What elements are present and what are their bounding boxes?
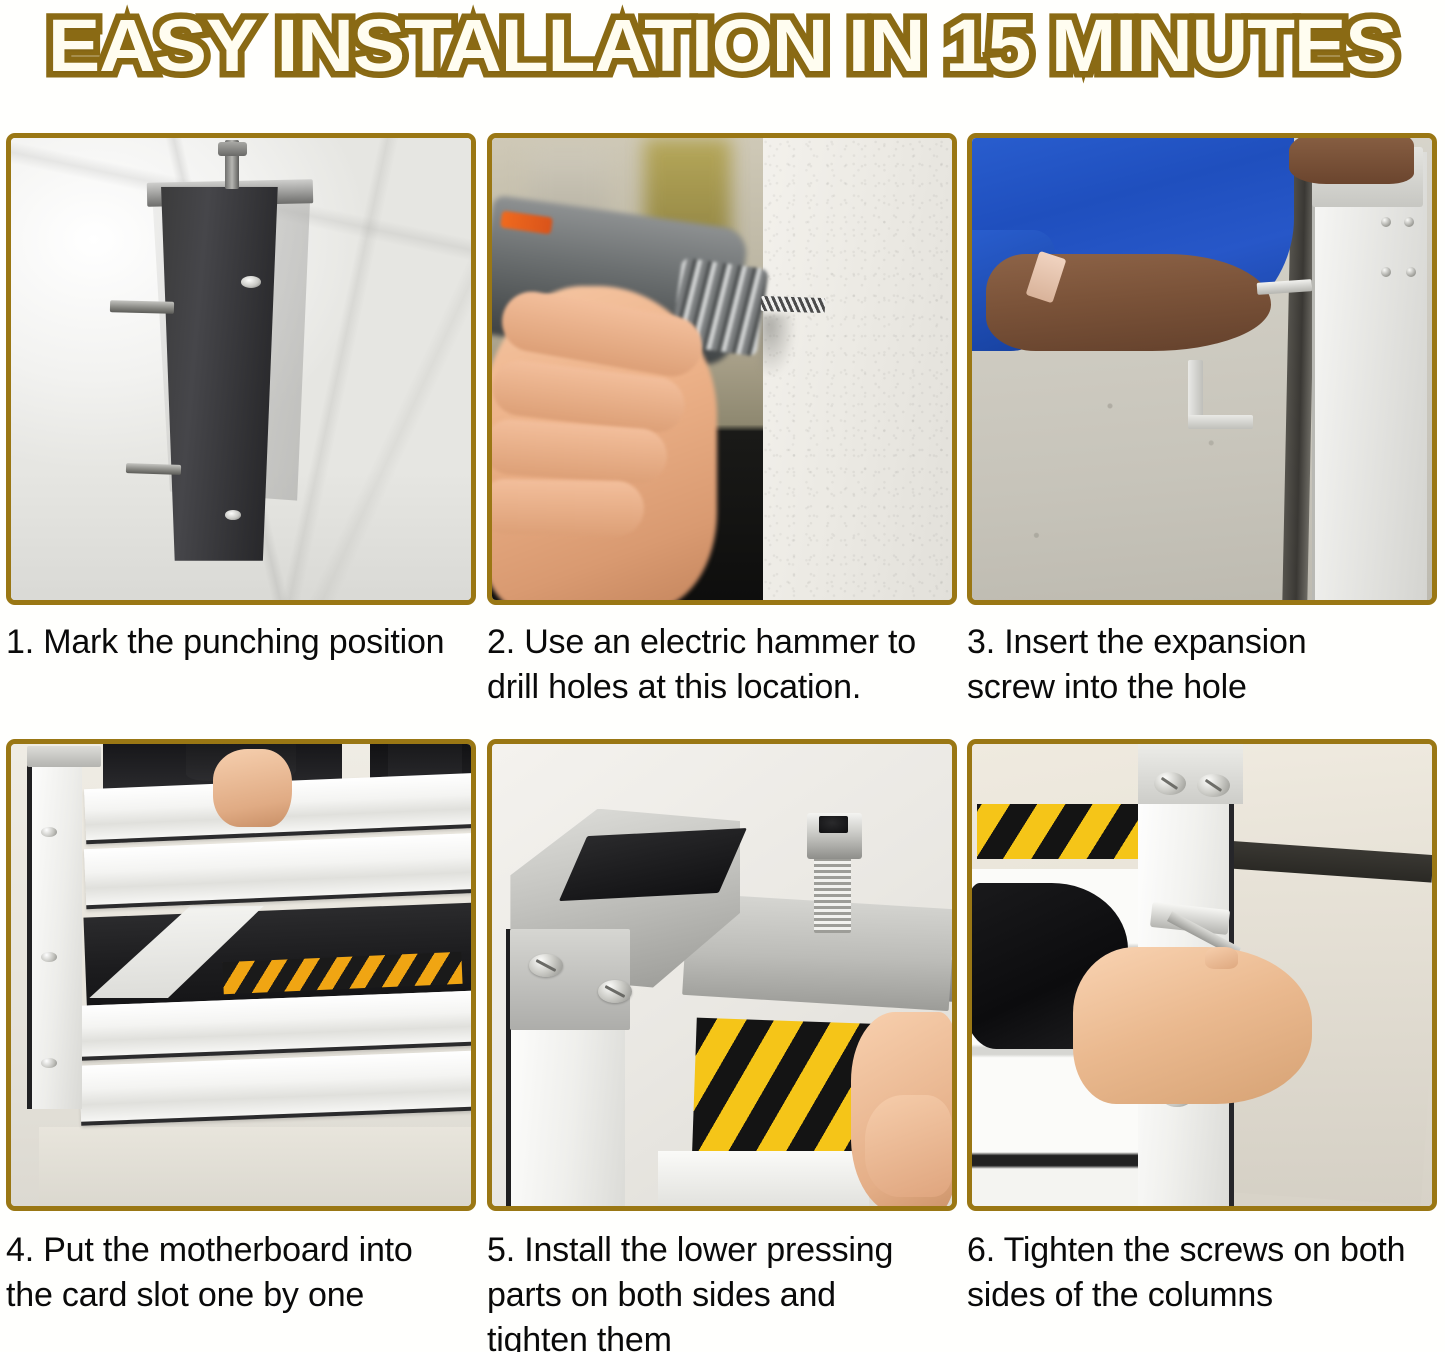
step-4-photo-panel	[6, 739, 476, 1211]
column-screw-2	[1404, 217, 1414, 227]
step-5-caption: 5. Install the lower pressing parts on b…	[487, 1228, 957, 1352]
barrier-board-edge	[658, 1151, 870, 1206]
installation-guide-infographic: EASY INSTALLATION IN 15 MINUTES 1. Mark …	[0, 0, 1445, 1352]
column-screw-1	[1154, 772, 1186, 795]
page-title: EASY INSTALLATION IN 15 MINUTES	[48, 7, 1397, 85]
step-3-photo-panel	[967, 133, 1437, 605]
step-2-caption: 2. Use an electric hammer to drill holes…	[487, 620, 957, 710]
bracket-slot-opening	[559, 828, 747, 901]
upper-stud	[110, 300, 175, 314]
drill-bit	[761, 296, 826, 313]
floor-surface	[39, 1127, 471, 1206]
step-6-photo-panel	[967, 739, 1437, 1211]
lower-stud	[126, 463, 182, 475]
column-screw-2	[1197, 774, 1229, 797]
worker-upper-hand	[1289, 138, 1413, 184]
worker-hand	[1073, 947, 1312, 1104]
step-3-caption: 3. Insert the expansion screw into the h…	[967, 620, 1437, 710]
slot-pin-2	[41, 952, 57, 962]
step-4-caption: 4. Put the motherboard into the card slo…	[6, 1228, 476, 1318]
photo-insert-expansion-screw	[972, 138, 1432, 600]
photo-tighten-screws	[972, 744, 1432, 1206]
allen-key-horizontal	[1188, 415, 1252, 429]
worker-fingers	[865, 1095, 952, 1197]
step-1-caption: 1. Mark the punching position	[6, 620, 476, 665]
photo-lower-pressing-parts	[492, 744, 952, 1206]
column-cap	[27, 746, 101, 767]
slot-pin-3	[41, 1058, 57, 1068]
photo-drill-holes	[492, 138, 952, 600]
column-screw-1	[1381, 217, 1391, 227]
phillips-screw-2	[598, 980, 633, 1003]
worker-thumb	[1205, 947, 1238, 969]
worker-hand	[213, 749, 291, 828]
column-card-slot	[27, 749, 82, 1109]
step-5-photo-panel	[487, 739, 957, 1211]
step-6-caption: 6. Tighten the screws on both sides of t…	[967, 1228, 1437, 1318]
photo-mark-punching-position	[11, 138, 471, 600]
column-top-cap	[1138, 744, 1244, 804]
hex-socket	[819, 816, 848, 833]
column-screw-3	[1381, 267, 1391, 277]
step-1-photo-panel	[6, 133, 476, 605]
worker-forearm	[986, 254, 1271, 351]
slot-pin-1	[41, 827, 57, 837]
upper-mounting-hole	[241, 276, 261, 288]
finger-4	[492, 478, 644, 536]
lower-mounting-hole	[225, 510, 241, 520]
top-bolt-head	[218, 142, 247, 157]
title-banner: EASY INSTALLATION IN 15 MINUTES	[0, 0, 1445, 92]
photo-insert-boards	[11, 744, 471, 1206]
step-2-photo-panel	[487, 133, 957, 605]
hazard-stripe-tape	[977, 804, 1143, 859]
hex-bolt-thread	[814, 855, 851, 934]
drill-dust	[759, 314, 796, 379]
